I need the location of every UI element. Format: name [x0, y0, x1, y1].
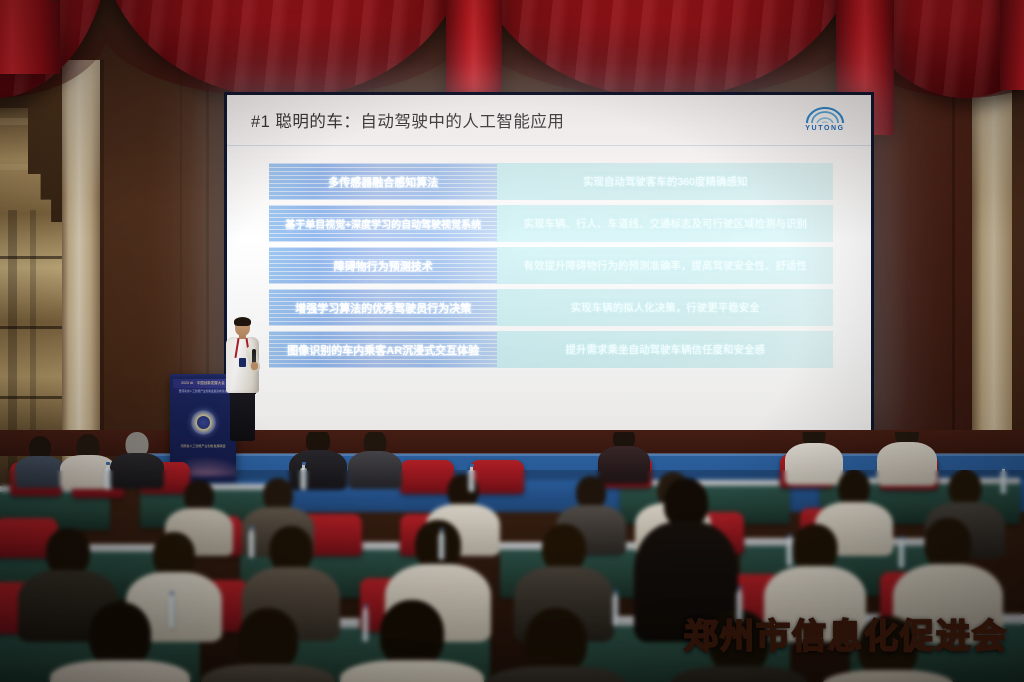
water-bottle	[1000, 472, 1007, 494]
tech-label: 障碍物行为预测技术	[334, 258, 433, 274]
benefit-label: 提升需求乘坐自动驾驶车辆信任度和安全感	[565, 342, 765, 357]
slide-table: 多传感器融合感知算法 实现自动驾驶客车的360度精确感知 基于单目视觉+深度学习…	[227, 146, 871, 383]
yutong-arc-icon	[805, 107, 845, 124]
table-cell-tech: 图像识别的车内乘客AR沉浸式交互体验	[269, 331, 497, 368]
benefit-label: 实现车辆的拟人化决策，行驶更平稳安全	[571, 300, 760, 315]
projection-screen: #1 聪明的车：自动驾驶中的人工智能应用 YUTONG 多传感器融合感知算法	[227, 95, 871, 433]
presenter-hand	[251, 362, 258, 370]
podium-headline: 2020 AI · 中国创新发展大会	[181, 381, 225, 386]
podium-subline: 暨河南省人工智能产业创新发展高峰论坛	[179, 389, 227, 393]
water-bottle	[300, 468, 307, 490]
table-cell-tech: 基于单目视觉+深度学习的自动驾驶视觉系统	[269, 205, 497, 242]
audience-member	[16, 436, 64, 484]
table-cell-benefit: 有效提升障碍物行为的预测准确率，提高驾驶安全性、舒适性	[497, 247, 833, 284]
table-row: 基于单目视觉+深度学习的自动驾驶视觉系统 实现车辆、行人、车道线、交通标志及可行…	[269, 205, 833, 242]
tech-label: 增强学习算法的优秀驾驶员行为决策	[295, 300, 471, 316]
benefit-label: 实现自动驾驶客车的360度精确感知	[583, 174, 748, 189]
water-bottle	[468, 470, 475, 492]
yutong-wordmark: YUTONG	[805, 125, 844, 132]
audience-member	[880, 432, 934, 482]
water-bottle	[362, 610, 369, 642]
slide-header: #1 聪明的车：自动驾驶中的人工智能应用 YUTONG	[227, 95, 871, 146]
benefit-label: 有效提升障碍物行为的预测准确率，提高驾驶安全性、舒适性	[523, 258, 807, 273]
water-bottle	[612, 596, 619, 626]
water-bottle	[168, 598, 175, 628]
tech-label: 基于单目视觉+深度学习的自动驾驶视觉系统	[285, 216, 481, 231]
presenter-hair	[234, 317, 251, 326]
tech-label: 图像识别的车内乘客AR沉浸式交互体验	[287, 342, 479, 358]
table-cell-tech: 障碍物行为预测技术	[269, 247, 497, 284]
conference-photo: #1 聪明的车：自动驾驶中的人工智能应用 YUTONG 多传感器融合感知算法	[0, 0, 1024, 682]
presenter	[222, 318, 262, 446]
slide-title: #1 聪明的车：自动驾驶中的人工智能应用	[251, 108, 564, 132]
audience-member-foreground	[210, 608, 326, 682]
table-cell-benefit: 提升需求乘坐自动驾驶车辆信任度和安全感	[497, 331, 833, 368]
yutong-logo: YUTONG	[795, 101, 855, 137]
table-cell-tech: 增强学习算法的优秀驾驶员行为决策	[269, 289, 497, 326]
table-cell-benefit: 实现自动驾驶客车的360度精确感知	[497, 163, 833, 200]
audience-member-foreground	[60, 602, 180, 682]
water-bottle	[248, 532, 255, 558]
table-cell-benefit: 实现车辆、行人、车道线、交通标志及可行驶区域检测与识别	[497, 205, 833, 242]
projection-screen-frame: #1 聪明的车：自动驾驶中的人工智能应用 YUTONG 多传感器融合感知算法	[224, 92, 874, 436]
water-bottle	[898, 542, 905, 568]
water-bottle	[786, 540, 793, 566]
water-bottle	[438, 534, 445, 560]
table-cell-tech: 多传感器融合感知算法	[269, 163, 497, 200]
tech-label: 多传感器融合感知算法	[328, 174, 438, 190]
wall-right-dark	[862, 60, 972, 490]
presenter-badge	[239, 358, 246, 367]
table-row: 多传感器融合感知算法 实现自动驾驶客车的360度精确感知	[269, 163, 833, 200]
audience-member	[112, 432, 162, 486]
table-cell-benefit: 实现车辆的拟人化决策，行驶更平稳安全	[497, 289, 833, 326]
watermark: 郑州市信息化促进会	[684, 609, 1008, 658]
audience-member-foreground	[496, 608, 616, 682]
table-row: 图像识别的车内乘客AR沉浸式交互体验 提升需求乘坐自动驾驶车辆信任度和安全感	[269, 331, 833, 368]
benefit-label: 实现车辆、行人、车道线、交通标志及可行驶区域检测与识别	[523, 216, 807, 231]
table-row: 障碍物行为预测技术 有效提升障碍物行为的预测准确率，提高驾驶安全性、舒适性	[269, 247, 833, 284]
water-bottle	[104, 468, 111, 490]
audience-member	[350, 432, 400, 484]
table-row: 增强学习算法的优秀驾驶员行为决策 实现车辆的拟人化决策，行驶更平稳安全	[269, 289, 833, 326]
